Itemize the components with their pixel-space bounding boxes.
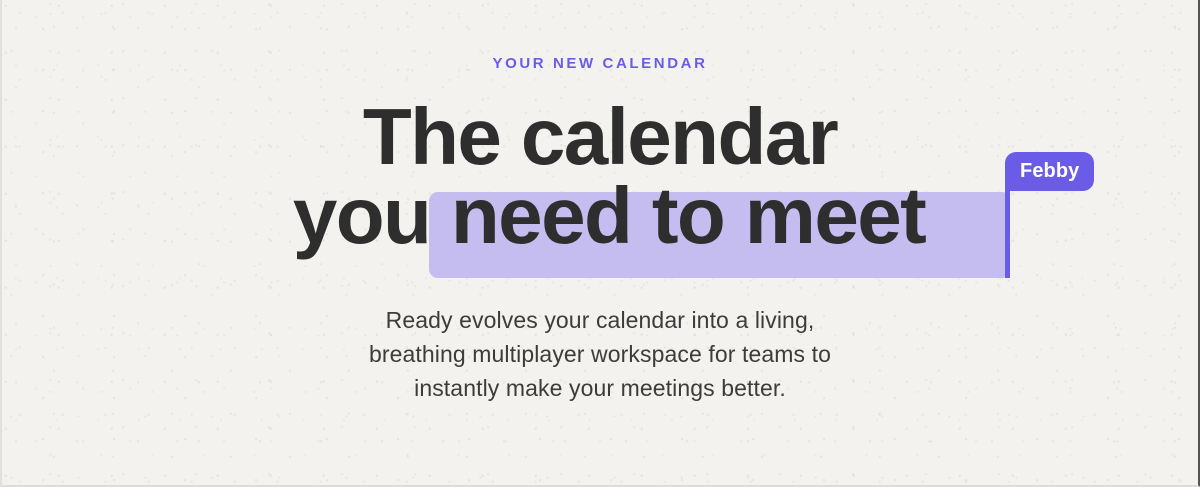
subheading-line-3: instantly make your meetings better. xyxy=(369,371,831,405)
headline-line-2-plain: you xyxy=(293,171,451,260)
collaborator-name-badge: Febby xyxy=(1005,152,1094,191)
eyebrow-label: YOUR NEW CALENDAR xyxy=(492,56,707,71)
subheading: Ready evolves your calendar into a livin… xyxy=(369,303,831,405)
subheading-line-1: Ready evolves your calendar into a livin… xyxy=(369,303,831,337)
headline-line-2-highlighted: need to meet xyxy=(451,171,925,260)
hero-section: YOUR NEW CALENDAR The calendar you need … xyxy=(0,0,1200,487)
subheading-line-2: breathing multiplayer workspace for team… xyxy=(369,337,831,371)
